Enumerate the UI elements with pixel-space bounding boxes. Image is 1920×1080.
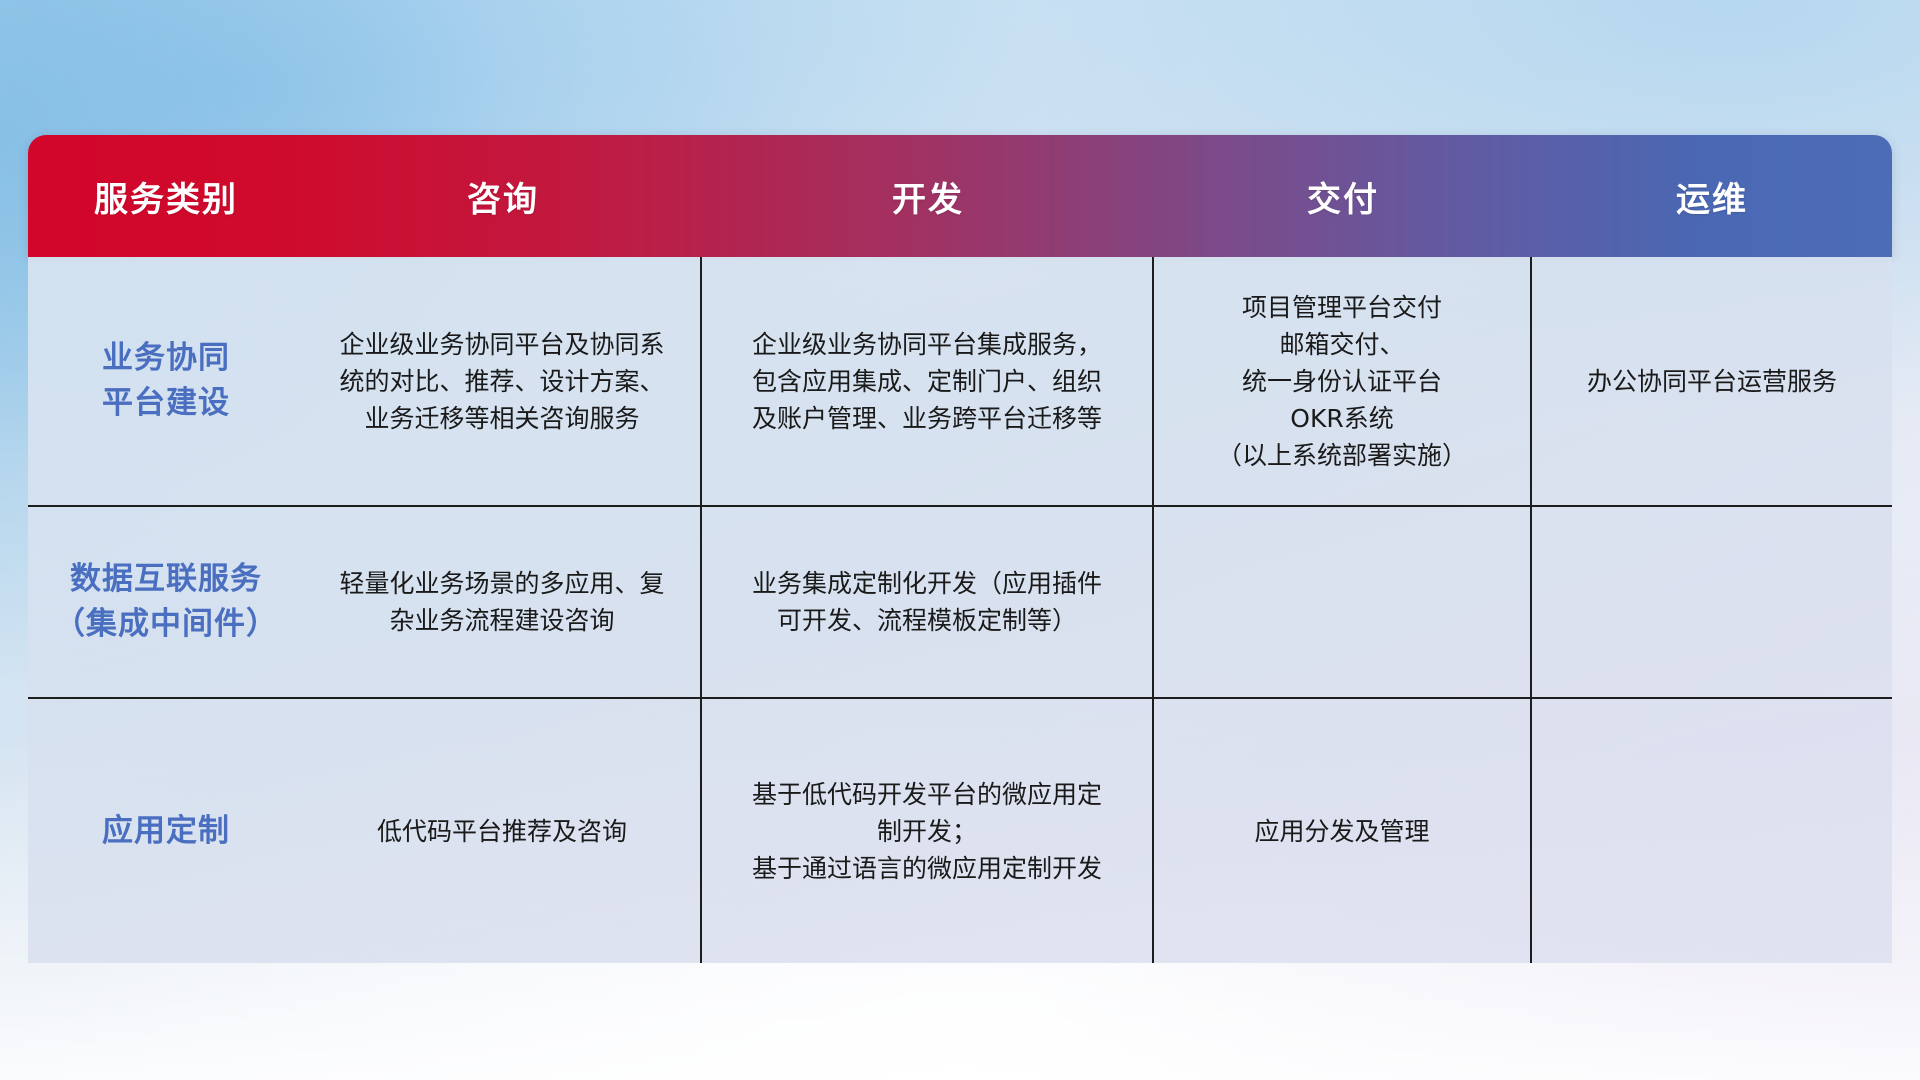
row-label-text: 数据互联服务 （集成中间件）	[54, 557, 278, 647]
column-header-operations: 运维	[1532, 135, 1892, 257]
cell-delivery: 项目管理平台交付 邮箱交付、 统一身份认证平台 OKR系统 （以上系统部署实施）	[1154, 257, 1532, 505]
row-label-cell: 应用定制	[28, 699, 304, 963]
table-row: 应用定制 低代码平台推荐及咨询 基于低代码开发平台的微应用定 制开发； 基于通过…	[28, 699, 1892, 963]
table-header-row: 服务类别 咨询 开发 交付 运维	[28, 135, 1892, 257]
cell-consulting: 低代码平台推荐及咨询	[304, 699, 702, 963]
column-header-category: 服务类别	[28, 135, 304, 257]
column-header-consulting: 咨询	[304, 135, 702, 257]
row-label-cell: 业务协同 平台建设	[28, 257, 304, 505]
table-body: 业务协同 平台建设 企业级业务协同平台及协同系 统的对比、推荐、设计方案、 业务…	[28, 257, 1892, 963]
cell-consulting: 轻量化业务场景的多应用、复 杂业务流程建设咨询	[304, 507, 702, 697]
row-label-cell: 数据互联服务 （集成中间件）	[28, 507, 304, 697]
row-label-text: 应用定制	[102, 809, 230, 854]
cell-operations	[1532, 507, 1892, 697]
row-label-text: 业务协同 平台建设	[102, 336, 230, 426]
cell-operations: 办公协同平台运营服务	[1532, 257, 1892, 505]
service-matrix-table: 服务类别 咨询 开发 交付 运维 业务协同 平台建设 企业级业务协同平台及协同系…	[28, 135, 1892, 963]
cell-operations	[1532, 699, 1892, 963]
table-row: 数据互联服务 （集成中间件） 轻量化业务场景的多应用、复 杂业务流程建设咨询 业…	[28, 507, 1892, 699]
column-header-development: 开发	[702, 135, 1154, 257]
cell-development: 企业级业务协同平台集成服务， 包含应用集成、定制门户、组织 及账户管理、业务跨平…	[702, 257, 1154, 505]
cell-development: 业务集成定制化开发（应用插件 可开发、流程模板定制等）	[702, 507, 1154, 697]
cell-delivery: 应用分发及管理	[1154, 699, 1532, 963]
column-header-delivery: 交付	[1154, 135, 1532, 257]
cell-consulting: 企业级业务协同平台及协同系 统的对比、推荐、设计方案、 业务迁移等相关咨询服务	[304, 257, 702, 505]
cell-delivery	[1154, 507, 1532, 697]
table-row: 业务协同 平台建设 企业级业务协同平台及协同系 统的对比、推荐、设计方案、 业务…	[28, 257, 1892, 507]
cell-development: 基于低代码开发平台的微应用定 制开发； 基于通过语言的微应用定制开发	[702, 699, 1154, 963]
